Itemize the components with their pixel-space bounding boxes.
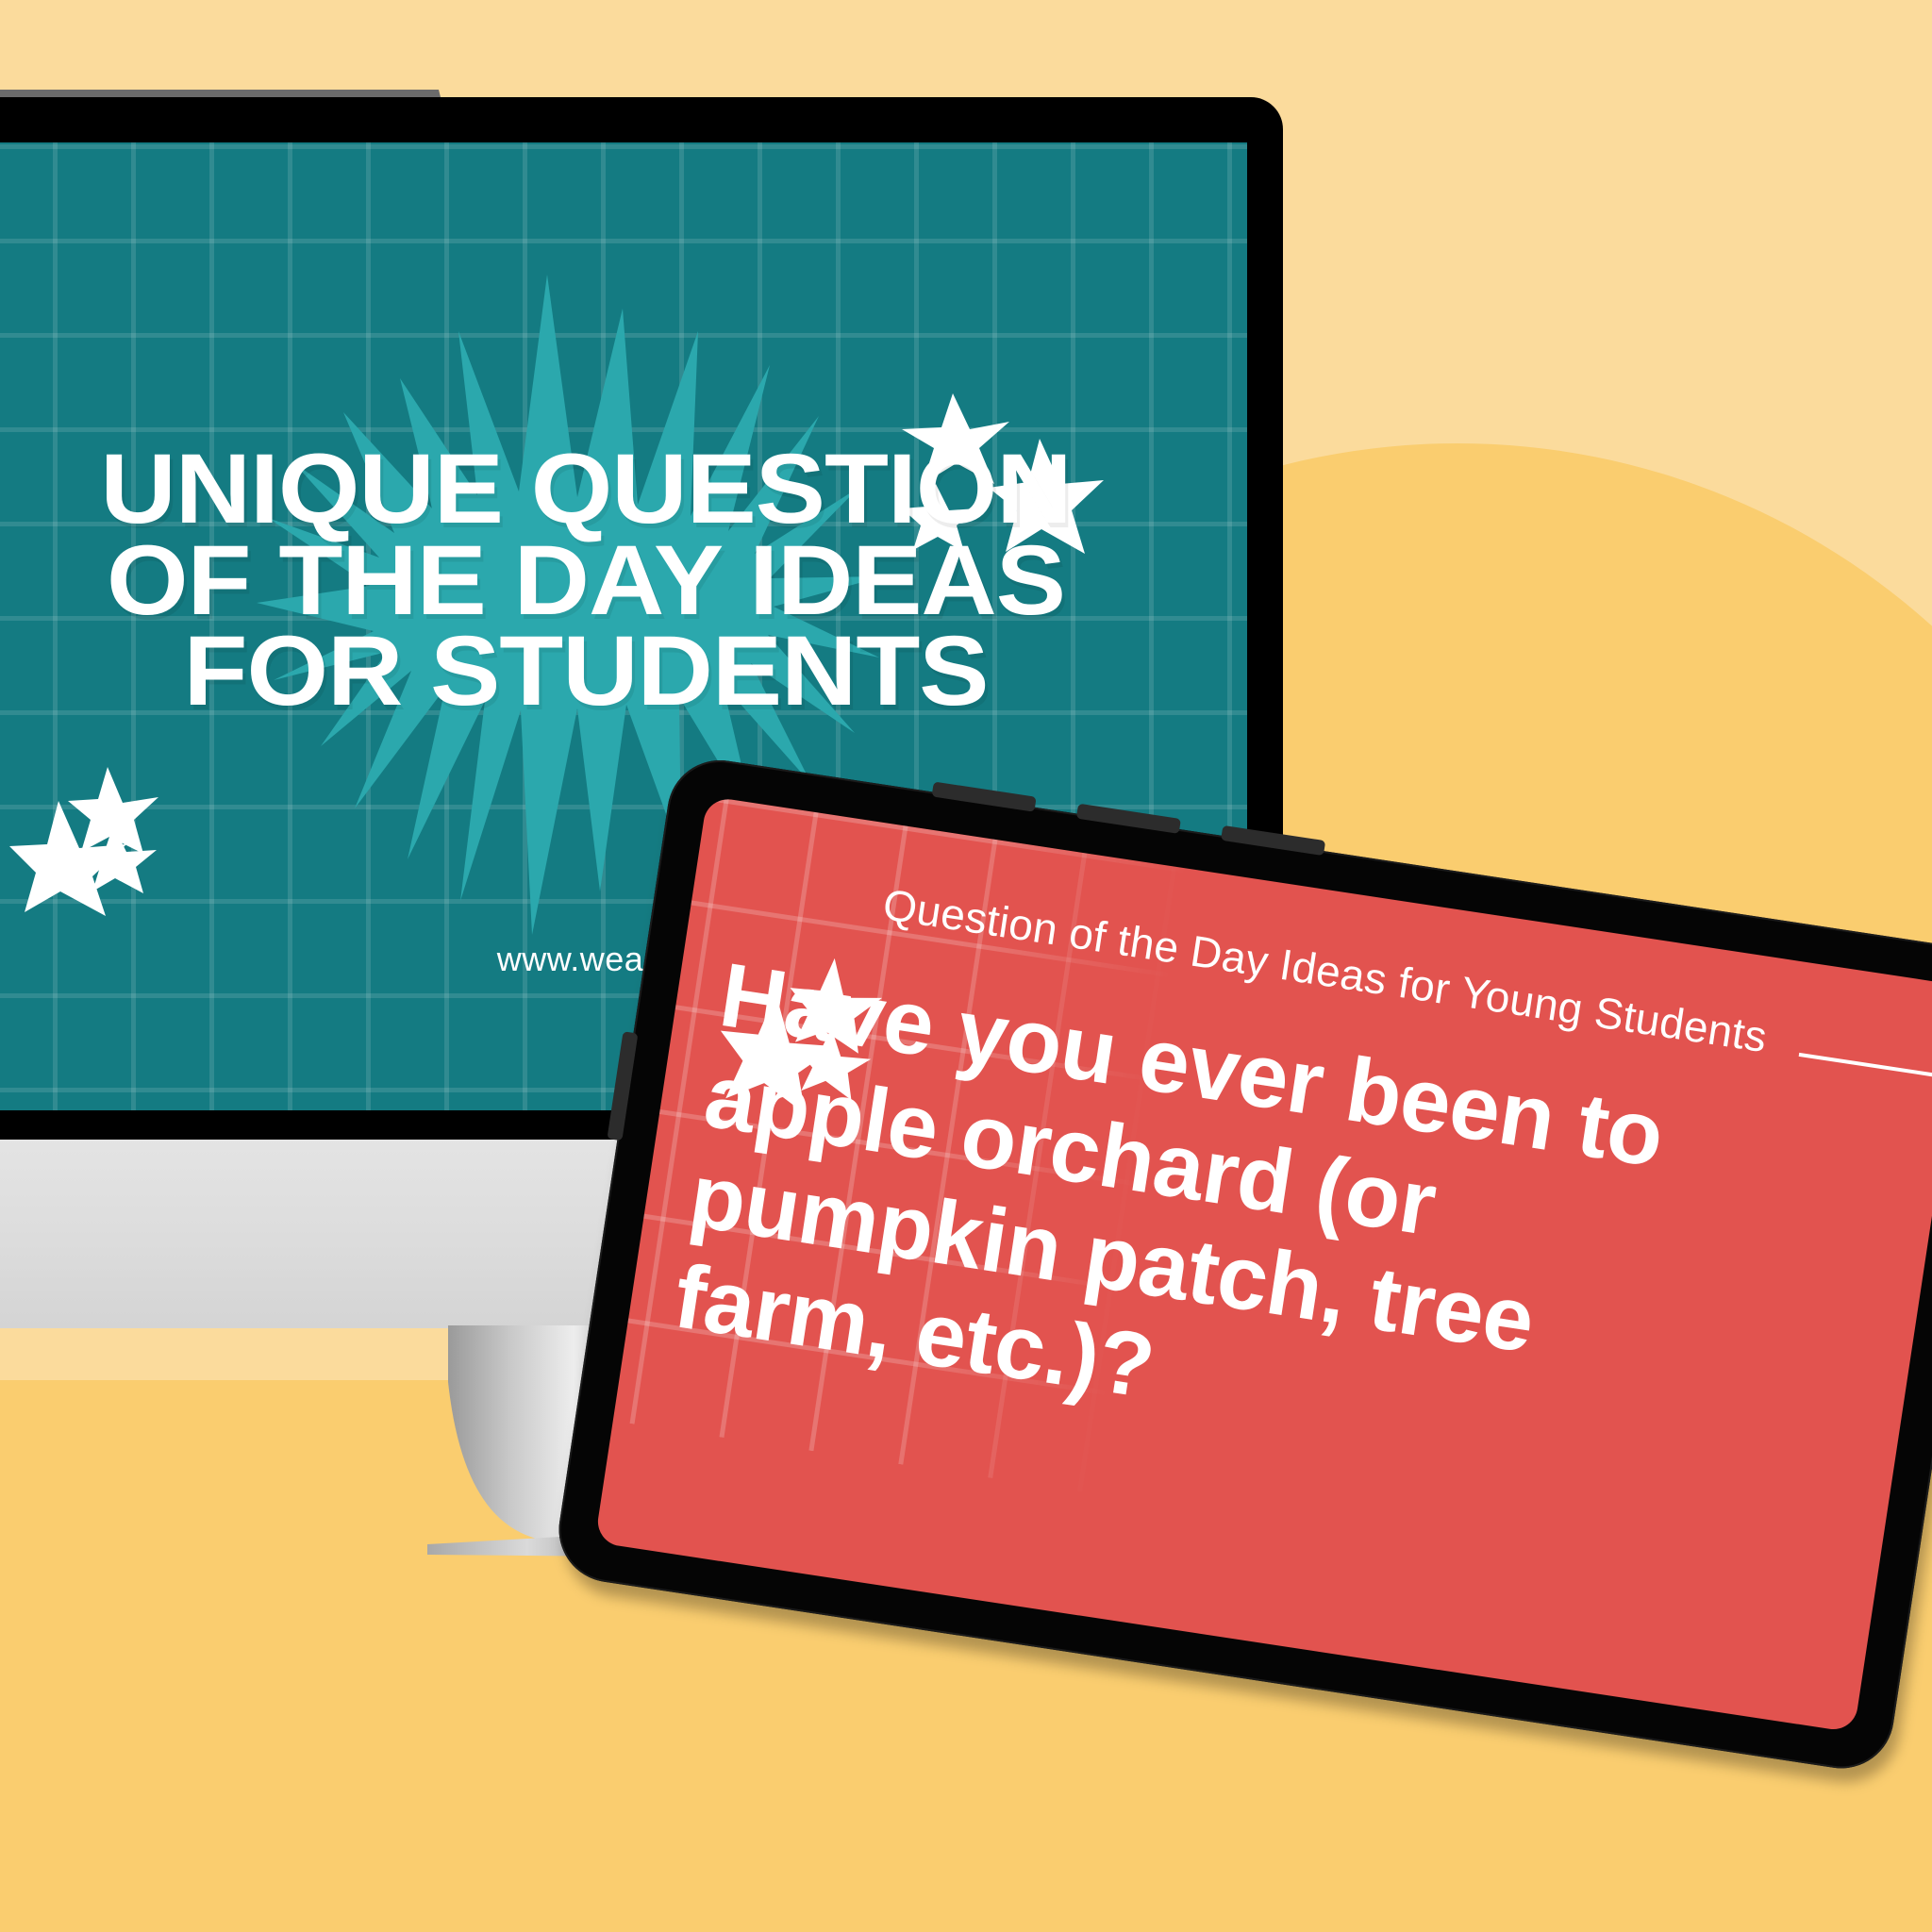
star-cluster-icon <box>9 765 198 916</box>
tablet-screen[interactable]: Question of the Day Ideas for Young Stud… <box>594 796 1932 1733</box>
poster-canvas: UNIQUE QUESTION OF THE DAY IDEAS FOR STU… <box>0 0 1932 1932</box>
page-title: UNIQUE QUESTION OF THE DAY IDEAS FOR STU… <box>0 444 1247 718</box>
